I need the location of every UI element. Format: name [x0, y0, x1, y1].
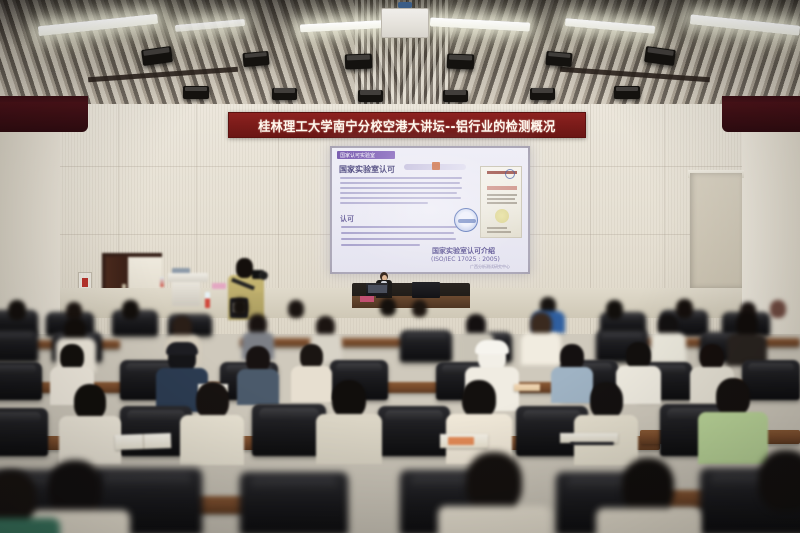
cnas-logo-icon — [454, 208, 478, 232]
photographer-head — [236, 258, 253, 278]
camera-icon — [252, 270, 264, 279]
slide-caption-main: 国家实验室认可介绍 — [432, 246, 495, 256]
audience-seating-area — [0, 300, 800, 533]
event-banner: 桂林理工大学南宁分校空港大讲坛--铝行业的检测概况 — [228, 112, 586, 138]
slide-title: 国家实验室认可 — [339, 164, 395, 175]
certificate-gold-seal-icon — [495, 209, 509, 223]
open-notebook — [115, 433, 171, 450]
baseball-cap — [166, 342, 198, 355]
chair — [742, 360, 800, 400]
stage-curtain — [0, 102, 88, 132]
book-cover-graphic — [448, 437, 474, 445]
presenter-laptop — [366, 283, 388, 296]
chair — [400, 330, 452, 362]
slide-caption-standard: (ISO/IEC 17025 : 2005) — [431, 256, 500, 263]
wall-alcove — [690, 173, 742, 288]
secondary-monitor — [412, 282, 440, 298]
chair — [378, 406, 450, 456]
chair — [240, 472, 348, 533]
ceiling-spotlight-icon — [272, 88, 297, 100]
book-on-desk — [514, 384, 540, 391]
ceiling-projector — [381, 8, 429, 38]
ceiling-spotlight-icon — [183, 86, 209, 99]
projector-lens-icon — [398, 2, 412, 8]
ceiling — [0, 0, 800, 118]
ceiling-spotlight-icon — [345, 54, 373, 70]
banner-text: 桂林理工大学南宁分校空港大讲坛--铝行业的检测概况 — [258, 116, 555, 135]
chair — [0, 330, 38, 362]
pink-item-on-table — [212, 283, 226, 289]
slide-header-bar: 国家认可实验室 — [337, 151, 395, 159]
slide-body-text-block — [340, 177, 462, 207]
ceiling-spotlight-icon — [545, 51, 572, 67]
certificate-seal-icon — [505, 169, 515, 179]
chair — [252, 404, 326, 456]
chair — [0, 408, 48, 456]
certificate-title-band — [487, 186, 517, 190]
slide-footer: 广西分析测试研究中心 — [470, 264, 510, 270]
ceiling-spotlight-icon — [358, 90, 383, 102]
ceiling-spotlight-icon — [530, 88, 555, 100]
slide-header-text: 国家认可实验室 — [340, 152, 375, 159]
baseball-cap — [475, 340, 509, 354]
water-bottle — [160, 277, 164, 287]
ceiling-spotlight-icon — [447, 54, 475, 70]
lecture-hall-photo: 桂林理工大学南宁分校空港大讲坛--铝行业的检测概况 国家认可实验室 国家实验室认… — [0, 0, 800, 533]
cart-top — [168, 273, 208, 282]
ceiling-spotlight-icon — [242, 51, 269, 67]
ceiling-spotlight-icon — [443, 90, 468, 102]
pen — [570, 442, 614, 445]
ceiling-spotlight-icon — [614, 86, 640, 99]
projection-screen: 国家认可实验室 国家实验室认可 认可 — [332, 148, 528, 272]
laptop-screen — [368, 285, 387, 293]
stage-curtain — [722, 102, 800, 132]
slide-subtitle: 认可 — [340, 214, 354, 224]
slide-accent-marker — [432, 162, 440, 170]
fire-alarm-icon — [82, 278, 88, 287]
chair — [0, 362, 42, 400]
certificate-image — [480, 166, 522, 238]
